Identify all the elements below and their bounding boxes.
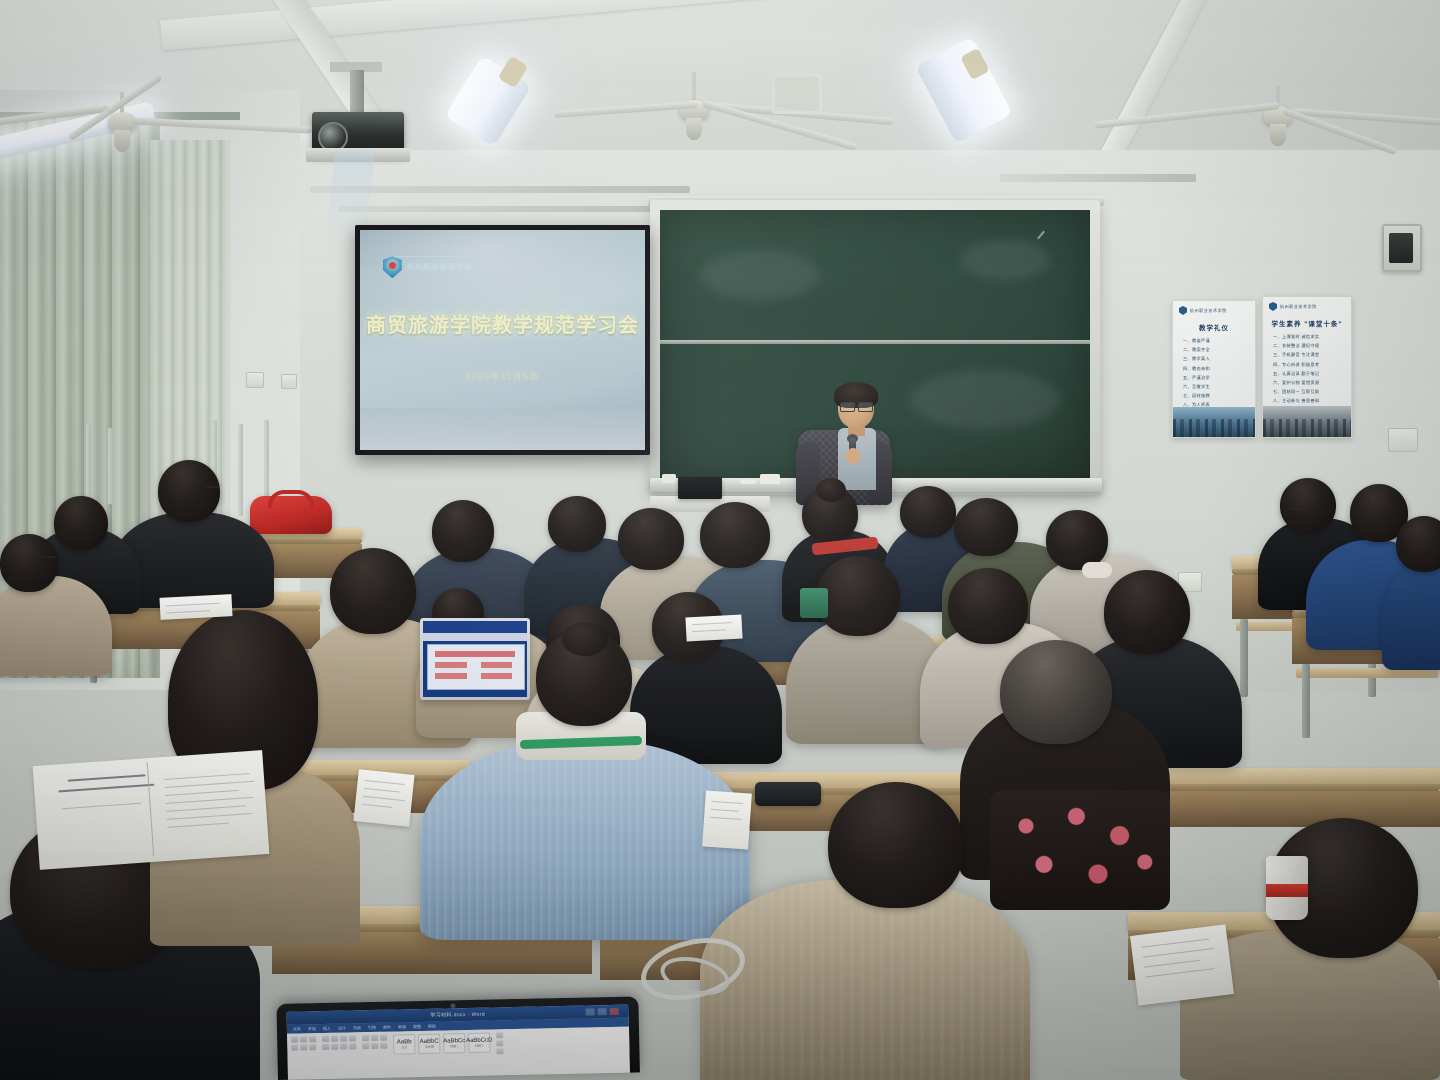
poster-list-item: 六、爱护公物 爱惜资源 (1273, 380, 1341, 386)
ceiling-trunking (1000, 174, 1196, 182)
poster-list-item: 三、手机静音 专注课堂 (1273, 352, 1341, 358)
projector-glare (360, 230, 645, 362)
printed-handout[interactable] (353, 769, 414, 827)
slide-lower-band (360, 408, 645, 450)
poster-photo (1173, 407, 1255, 437)
ribbon-group-font[interactable] (322, 1035, 356, 1050)
numbering-icon[interactable] (371, 1035, 378, 1041)
style-label: 无间隔 (425, 1045, 434, 1049)
poster-org: 杭州职业技术学院 (1190, 308, 1227, 314)
bullets-icon[interactable] (362, 1035, 369, 1041)
podium-monitor (678, 477, 722, 499)
tab-layout[interactable]: 布局 (353, 1025, 361, 1031)
laptop[interactable] (420, 618, 530, 700)
poster-list-item: 五、严谨治学 (1183, 375, 1245, 381)
minimize-button[interactable] (586, 1008, 595, 1015)
wall-conduit (238, 424, 243, 516)
board-eraser[interactable] (662, 474, 676, 483)
subscript-icon[interactable] (340, 1044, 347, 1050)
poster-photo (1263, 406, 1351, 437)
style-label: 正文 (401, 1045, 407, 1049)
wall-conduit (108, 428, 113, 504)
ceiling-trunking (338, 206, 668, 212)
wall-conduit (86, 424, 91, 504)
slide-title: 商贸旅游学院教学规范学习会 (360, 309, 645, 338)
replace-icon[interactable] (496, 1040, 503, 1046)
printed-handout[interactable] (685, 615, 742, 642)
printed-handout[interactable] (159, 594, 232, 620)
ceiling-fan (0, 92, 300, 162)
tab-references[interactable]: 引用 (368, 1024, 376, 1030)
word-style-gallery[interactable]: AaBb 正文 AaBbC 无间隔 AaBbCc 标题 1 AaBbCcD 标题… (393, 1033, 490, 1055)
tab-review[interactable]: 审阅 (398, 1024, 406, 1030)
poster-list-item: 七、因材施教 (1183, 393, 1245, 399)
highlight-icon[interactable] (349, 1035, 356, 1041)
floral-patterned-top (990, 790, 1170, 910)
superscript-icon[interactable] (349, 1043, 356, 1049)
cut-icon[interactable] (300, 1036, 307, 1042)
style-heading-2[interactable]: AaBbCcD 标题 2 (468, 1033, 490, 1053)
bold-icon[interactable] (300, 1044, 307, 1050)
style-no-spacing[interactable]: AaBbC 无间隔 (418, 1034, 440, 1054)
style-label: 标题 2 (475, 1044, 484, 1048)
word-document-title: 学习材料.docx - Word (430, 1011, 485, 1019)
poster-badge-icon (1269, 302, 1277, 311)
cup-band (1266, 884, 1308, 897)
poster-org: 杭州职业技术学院 (1280, 304, 1317, 310)
tab-design[interactable]: 设计 (338, 1025, 346, 1031)
ribbon-group-clipboard[interactable] (291, 1036, 316, 1051)
tab-insert[interactable]: 插入 (323, 1025, 331, 1031)
word-ribbon[interactable]: AaBb 正文 AaBbC 无间隔 AaBbCc 标题 1 AaBbCcD 标题… (287, 1027, 630, 1080)
style-label: 标题 1 (450, 1044, 459, 1048)
ceiling-fan (600, 72, 900, 152)
phone-on-desk[interactable] (755, 782, 821, 806)
tan-jacket (700, 880, 1030, 1080)
poster-list-item: 七、团结同一 互帮互助 (1273, 389, 1341, 395)
board-eraser[interactable] (760, 474, 780, 484)
underline-icon[interactable] (322, 1044, 329, 1050)
ribbon-group-paragraph[interactable] (362, 1035, 387, 1050)
chalkboard-divider-rail (660, 340, 1090, 344)
poster-list-item: 一、教姿严谨 (1183, 338, 1245, 344)
poster-list-item: 五、认真记录 勤于笔记 (1273, 371, 1341, 377)
fan-ceiling-mount (772, 74, 822, 114)
tab-file[interactable]: 文件 (293, 1026, 301, 1032)
poster-header: 杭州职业技术学院 (1263, 297, 1351, 311)
poster-list-item: 四、专心听讲 积极思考 (1273, 362, 1341, 368)
classroom-photo: 杭州职业技术学院 商贸旅游学院教学规范学习会 2020年11月5日 杭州职业技术… (0, 0, 1440, 1080)
glasses-icon (858, 402, 873, 412)
poster-badge-icon (1179, 306, 1187, 315)
copy-icon[interactable] (309, 1036, 316, 1042)
wall-poster-student-conduct: 杭州职业技术学院 学生素养 "课堂十条" 一、上课准时 诚信求实 二、衣装整洁 … (1262, 296, 1352, 438)
style-normal[interactable]: AaBb 正文 (393, 1034, 415, 1054)
line-spacing-icon[interactable] (371, 1043, 378, 1049)
hair-clip (1082, 562, 1112, 578)
printed-handout[interactable] (1130, 924, 1234, 1005)
tab-mailings[interactable]: 邮件 (383, 1024, 391, 1030)
tab-home[interactable]: 开始 (308, 1026, 316, 1032)
poster-list-item: 八、主动参与 善思善辩 (1273, 398, 1341, 404)
poster-list-item: 四、教态亲和 (1183, 366, 1245, 372)
ribbon-group-editing[interactable] (496, 1032, 503, 1054)
ceiling-fan (1180, 86, 1440, 156)
wall-outlet (281, 374, 297, 389)
poster-title: 教学礼仪 (1173, 322, 1255, 332)
format-painter-icon[interactable] (291, 1045, 298, 1051)
poster-header: 杭州职业技术学院 (1173, 301, 1255, 315)
font-size-icon[interactable] (331, 1036, 338, 1042)
printed-handout[interactable] (702, 790, 752, 849)
green-cup[interactable] (800, 588, 828, 618)
presenter-hand (846, 448, 860, 464)
align-center-icon[interactable] (362, 1043, 369, 1049)
printed-handout[interactable] (33, 750, 270, 870)
slide-org-name: 杭州职业技术学院 (407, 262, 473, 272)
poster-list-item: 二、教案齐全 (1183, 347, 1245, 353)
laptop-foreground[interactable]: 学习材料.docx - Word 文件 开始 插入 设计 布局 引用 邮件 审阅… (276, 996, 640, 1080)
wall-outlet (246, 372, 264, 388)
laptop-screen (423, 621, 527, 697)
find-icon[interactable] (496, 1032, 503, 1038)
blue-knit-sweater (420, 740, 750, 940)
slide-logo-underline (394, 256, 462, 257)
projection-screen: 杭州职业技术学院 商贸旅游学院教学规范学习会 2020年11月5日 (355, 225, 650, 455)
slide-surface: 杭州职业技术学院 商贸旅游学院教学规范学习会 2020年11月5日 (360, 230, 645, 450)
glasses-bridge (852, 405, 859, 406)
align-left-icon[interactable] (380, 1035, 387, 1041)
wall-speaker-icon (1382, 224, 1422, 272)
maximize-button[interactable] (598, 1008, 607, 1015)
font-color-icon[interactable] (340, 1036, 347, 1042)
tab-help[interactable]: 帮助 (428, 1023, 436, 1029)
font-family-icon[interactable] (322, 1036, 329, 1042)
poster-list-item: 六、互敬学生 (1183, 384, 1245, 390)
poster-list-item: 一、上课准时 诚信求实 (1273, 334, 1341, 340)
word-window[interactable]: 学习材料.docx - Word 文件 开始 插入 设计 布局 引用 邮件 审阅… (287, 1005, 630, 1080)
poster-list-item: 二、衣装整洁 遵纪守规 (1273, 343, 1341, 349)
poster-list: 一、教姿严谨 二、教案齐全 三、教学真入 四、教态亲和 五、严谨治学 六、互敬学… (1173, 332, 1255, 408)
glasses-icon (840, 402, 855, 412)
paste-icon[interactable] (291, 1037, 298, 1043)
chalk-stick[interactable] (740, 479, 756, 484)
slide-logo: 杭州职业技术学院 (383, 256, 473, 278)
shield-logo-icon (383, 256, 402, 278)
shading-icon[interactable] (380, 1043, 387, 1049)
poster-title: 学生素养 "课堂十条" (1263, 318, 1351, 328)
wall-poster-teaching-etiquette: 杭州职业技术学院 教学礼仪 一、教姿严谨 二、教案齐全 三、教学真入 四、教态亲… (1172, 300, 1256, 438)
style-heading-1[interactable]: AaBbCc 标题 1 (443, 1033, 465, 1053)
slide-subtitle: 2020年11月5日 (360, 371, 645, 382)
strikethrough-icon[interactable] (331, 1044, 338, 1050)
select-icon[interactable] (496, 1048, 503, 1054)
close-button[interactable] (610, 1008, 619, 1015)
tab-view[interactable]: 视图 (413, 1023, 421, 1029)
handbag-handle (268, 490, 314, 508)
poster-list-item: 三、教学真入 (1183, 356, 1245, 362)
italic-icon[interactable] (309, 1044, 316, 1050)
wall-switch[interactable] (1388, 428, 1418, 452)
